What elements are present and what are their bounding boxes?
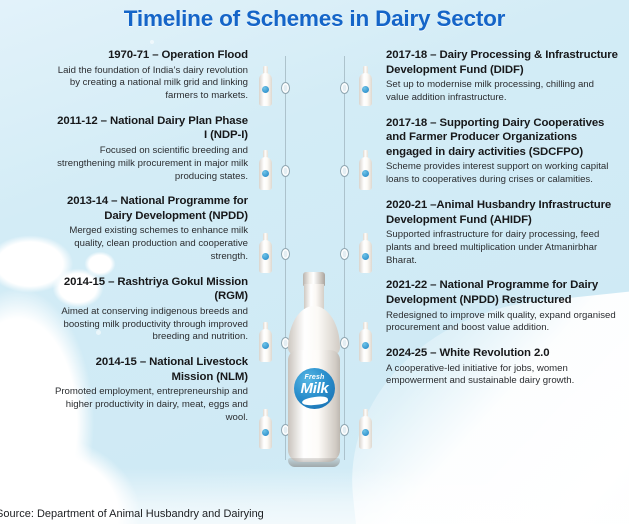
- milk-bottle-icon: [259, 150, 272, 190]
- bottle-label-icon: [262, 170, 269, 177]
- timeline-node: [340, 165, 349, 177]
- timeline-entry: 2020-21 –Animal Husbandry Infrastructure…: [386, 198, 618, 267]
- entry-description: Merged existing schemes to enhance milk …: [52, 225, 248, 263]
- timeline-node: [340, 82, 349, 94]
- source-caption: Source: Department of Animal Husbandry a…: [0, 508, 264, 520]
- entry-heading: 2024-25 – White Revolution 2.0: [386, 346, 618, 361]
- entry-heading: 1970-71 – Operation Flood: [52, 48, 248, 63]
- entry-description: Scheme provides interest support on work…: [386, 161, 618, 187]
- milk-bottle-icon: [359, 66, 372, 106]
- timeline-entry: 2013-14 – National Programme for Dairy D…: [52, 194, 248, 263]
- entry-description: Promoted employment, entrepreneurship an…: [52, 386, 248, 424]
- hero-milk-bottle: Fresh Milk: [283, 272, 345, 467]
- entry-heading: 2013-14 – National Programme for Dairy D…: [52, 194, 248, 223]
- entry-description: Set up to modernise milk processing, chi…: [386, 79, 618, 105]
- bottle-label-icon: [262, 86, 269, 93]
- timeline-entry: 2024-25 – White Revolution 2.0 A coopera…: [386, 346, 618, 388]
- entry-description: Redesigned to improve milk quality, expa…: [386, 310, 618, 336]
- timeline-entry: 1970-71 – Operation Flood Laid the found…: [52, 48, 248, 103]
- entry-heading: 2017-18 – Dairy Processing & Infrastruct…: [386, 48, 618, 77]
- entry-description: Supported infrastructure for dairy proce…: [386, 229, 618, 267]
- bottle-label-icon: [362, 170, 369, 177]
- entry-heading: 2014-15 – National Livestock Mission (NL…: [52, 355, 248, 384]
- timeline-entry: 2017-18 – Supporting Dairy Cooperatives …: [386, 116, 618, 187]
- bottle-label-icon: [262, 342, 269, 349]
- entry-heading: 2011-12 – National Dairy Plan Phase I (N…: [52, 114, 248, 143]
- bottle-label-icon: [262, 429, 269, 436]
- timeline-entry: 2017-18 – Dairy Processing & Infrastruct…: [386, 48, 618, 105]
- entry-description: Aimed at conserving indigenous breeds an…: [52, 306, 248, 344]
- bottle-label-icon: [362, 429, 369, 436]
- entry-heading: 2014-15 – Rashtriya Gokul Mission (RGM): [52, 275, 248, 304]
- entry-description: A cooperative-led initiative for jobs, w…: [386, 363, 618, 389]
- timeline-node: [281, 165, 290, 177]
- milk-bottle-icon: [259, 409, 272, 449]
- milk-bottle-icon: [259, 233, 272, 273]
- brand-label-main: Milk: [294, 380, 335, 397]
- timeline-node: [281, 82, 290, 94]
- timeline-entry: 2011-12 – National Dairy Plan Phase I (N…: [52, 114, 248, 183]
- entry-heading: 2020-21 –Animal Husbandry Infrastructure…: [386, 198, 618, 227]
- entry-heading: 2017-18 – Supporting Dairy Cooperatives …: [386, 116, 618, 160]
- milk-bottle-icon: [359, 322, 372, 362]
- milk-bottle-icon: [259, 322, 272, 362]
- bottle-label-icon: [362, 86, 369, 93]
- timeline-column-right: 2017-18 – Dairy Processing & Infrastruct…: [386, 48, 618, 388]
- infographic-canvas: Timeline of Schemes in Dairy Sector: [0, 0, 629, 524]
- entry-heading: 2021-22 – National Programme for Dairy D…: [386, 278, 618, 307]
- timeline-node: [281, 248, 290, 260]
- milk-bottle-icon: [259, 66, 272, 106]
- bottle-brand-label: Fresh Milk: [294, 368, 335, 409]
- milk-bottle-icon: [359, 409, 372, 449]
- entry-description: Laid the foundation of India’s dairy rev…: [52, 65, 248, 103]
- timeline-node: [340, 248, 349, 260]
- bottle-label-icon: [362, 253, 369, 260]
- milk-bottle-icon: [359, 150, 372, 190]
- timeline-entry: 2021-22 – National Programme for Dairy D…: [386, 278, 618, 335]
- milk-bottle-icon: [359, 233, 372, 273]
- timeline-entry: 2014-15 – Rashtriya Gokul Mission (RGM) …: [52, 275, 248, 344]
- page-title: Timeline of Schemes in Dairy Sector: [0, 6, 629, 32]
- bubble-decor: [150, 40, 154, 44]
- bottle-label-icon: [262, 253, 269, 260]
- timeline-entry: 2014-15 – National Livestock Mission (NL…: [52, 355, 248, 424]
- timeline-column-left: 1970-71 – Operation Flood Laid the found…: [52, 48, 248, 425]
- bottle-label-icon: [362, 342, 369, 349]
- bottle-base: [288, 458, 340, 467]
- entry-description: Focused on scientific breeding and stren…: [52, 145, 248, 183]
